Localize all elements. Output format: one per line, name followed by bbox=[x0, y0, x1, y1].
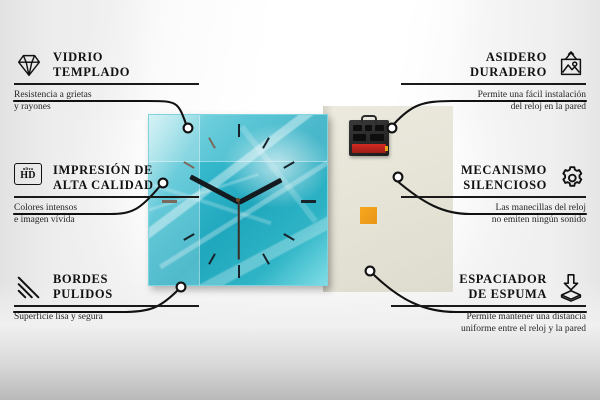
clock-tick-6 bbox=[238, 265, 240, 278]
feature-description: Colores intensos e imagen vívida bbox=[14, 202, 199, 227]
picture-hanger-icon bbox=[556, 50, 586, 80]
feature-heading: ESPACIADOR DE ESPUMA bbox=[391, 272, 586, 302]
feature-heading: MECANISMO SILENCIOSO bbox=[401, 163, 586, 193]
clock-glass-line bbox=[149, 161, 327, 162]
feature-divider bbox=[391, 305, 586, 307]
feature-impresion-alta-calidad[interactable]: ultra HD IMPRESIÓN DE ALTA CALIDAD Color… bbox=[14, 163, 199, 227]
feature-mecanismo-silencioso[interactable]: MECANISMO SILENCIOSO Las manecillas del … bbox=[401, 163, 586, 227]
feature-description: Permite una fácil instalación del reloj … bbox=[401, 89, 586, 114]
clock-glass-line bbox=[199, 115, 200, 285]
feature-title: ESPACIADOR DE ESPUMA bbox=[459, 272, 547, 302]
feature-asidero-duradero[interactable]: ASIDERO DURADERO Permite una fácil insta… bbox=[401, 50, 586, 114]
ultra-hd-badge: ultra HD bbox=[14, 163, 42, 185]
polished-edges-icon bbox=[14, 272, 44, 302]
feature-title: IMPRESIÓN DE ALTA CALIDAD bbox=[53, 163, 154, 193]
mechanism-vent bbox=[375, 125, 384, 131]
feature-divider bbox=[14, 83, 199, 85]
feature-divider bbox=[14, 196, 199, 198]
mechanism-vent bbox=[353, 134, 366, 141]
clock-tick-12 bbox=[238, 124, 240, 137]
feature-heading: ASIDERO DURADERO bbox=[401, 50, 586, 80]
feature-title: MECANISMO SILENCIOSO bbox=[461, 163, 547, 193]
feature-description: Las manecillas del reloj no emiten ningú… bbox=[401, 202, 586, 227]
foam-spacer-icon bbox=[556, 272, 586, 302]
feature-divider bbox=[14, 305, 199, 307]
foam-spacer-sample bbox=[360, 207, 377, 224]
feature-description: Resistencia a grietas y rayones bbox=[14, 89, 199, 114]
clock-second-hand bbox=[238, 202, 240, 260]
feature-title: BORDES PULIDOS bbox=[53, 272, 113, 302]
feature-title: ASIDERO DURADERO bbox=[470, 50, 547, 80]
ultra-hd-main-label: HD bbox=[20, 171, 36, 181]
ultra-hd-icon: ultra HD bbox=[14, 163, 44, 193]
feature-description: Superficie lisa y segura bbox=[14, 311, 199, 324]
feature-divider bbox=[401, 83, 586, 85]
clock-mechanism bbox=[349, 120, 389, 156]
mechanism-vent bbox=[370, 134, 384, 141]
feature-divider bbox=[401, 196, 586, 198]
mechanism-hook-icon bbox=[361, 115, 377, 123]
mechanism-vent bbox=[353, 125, 362, 131]
feature-heading: ultra HD IMPRESIÓN DE ALTA CALIDAD bbox=[14, 163, 199, 193]
gear-icon bbox=[556, 163, 586, 193]
feature-heading: VIDRIO TEMPLADO bbox=[14, 50, 199, 80]
diamond-icon bbox=[14, 50, 44, 80]
feature-description: Permite mantener una distancia uniforme … bbox=[391, 311, 586, 336]
mechanism-vent bbox=[365, 125, 372, 131]
clock-center-pin bbox=[236, 198, 240, 202]
clock-tick-3 bbox=[301, 200, 316, 203]
mechanism-battery bbox=[352, 144, 386, 153]
feature-espaciador-de-espuma[interactable]: ESPACIADOR DE ESPUMA Permite mantener un… bbox=[391, 272, 586, 336]
feature-title: VIDRIO TEMPLADO bbox=[53, 50, 130, 80]
feature-vidrio-templado[interactable]: VIDRIO TEMPLADO Resistencia a grietas y … bbox=[14, 50, 199, 114]
feature-heading: BORDES PULIDOS bbox=[14, 272, 199, 302]
infographic-canvas: VIDRIO TEMPLADO Resistencia a grietas y … bbox=[0, 0, 600, 400]
feature-bordes-pulidos[interactable]: BORDES PULIDOS Superficie lisa y segura bbox=[14, 272, 199, 323]
